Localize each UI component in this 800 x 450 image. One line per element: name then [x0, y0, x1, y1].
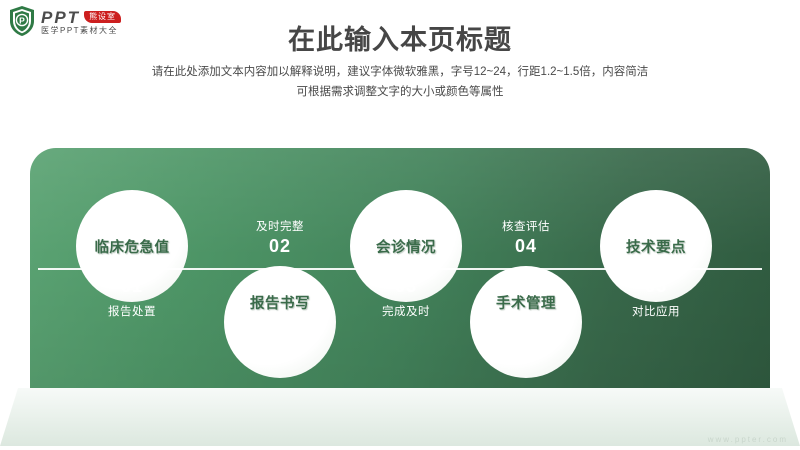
- circle-item-2[interactable]: [224, 266, 336, 378]
- caption-5: 对比应用: [600, 303, 712, 319]
- process-panel: 临床危急值 及时完整 02 报告书写 会诊情况 核查评估 04 手术管理 技术要…: [30, 148, 770, 388]
- page-subtitle: 请在此处添加文本内容加以解释说明，建议字体微软雅黑，字号12~24，行距1.2~…: [0, 62, 800, 102]
- slide-canvas: P PPT 熊设室 医学PPT素材大全 在此输入本页标题 请在此处添加文本内容加…: [0, 0, 800, 450]
- number-5: 05: [600, 276, 712, 297]
- panel-background: 临床危急值 及时完整 02 报告书写 会诊情况 核查评估 04 手术管理 技术要…: [30, 148, 770, 388]
- panel-base: [0, 388, 800, 446]
- circle-label-3: 会诊情况: [350, 236, 462, 257]
- caption-3: 完成及时: [350, 303, 462, 319]
- number-4: 04: [470, 236, 582, 257]
- circle-label-5: 技术要点: [600, 236, 712, 257]
- circle-label-1: 临床危急值: [76, 236, 188, 257]
- timeline-divider: [38, 268, 762, 270]
- caption-1: 报告处置: [76, 303, 188, 319]
- small-title-2: 及时完整: [224, 218, 336, 234]
- subtitle-line-2: 可根据需求调整文字的大小或颜色等属性: [0, 82, 800, 102]
- subtitle-line-1: 请在此处添加文本内容加以解释说明，建议字体微软雅黑，字号12~24，行距1.2~…: [0, 62, 800, 82]
- small-title-4: 核查评估: [470, 218, 582, 234]
- number-2: 02: [224, 236, 336, 257]
- circle-label-4: 手术管理: [470, 292, 582, 313]
- circle-label-2: 报告书写: [224, 292, 336, 313]
- number-1: 01: [76, 276, 188, 297]
- watermark: www.ppter.com: [708, 435, 788, 444]
- page-title: 在此输入本页标题: [0, 18, 800, 57]
- number-3: 03: [350, 276, 462, 297]
- circle-item-4[interactable]: [470, 266, 582, 378]
